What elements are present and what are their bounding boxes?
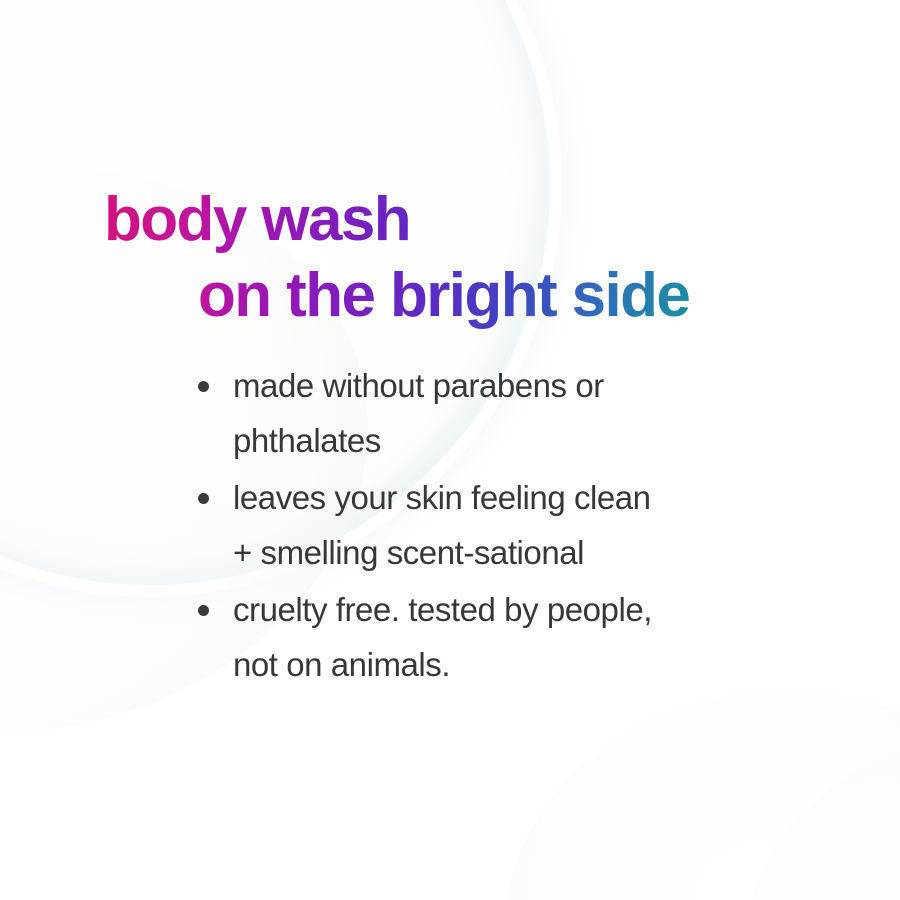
bullet-dot-icon — [198, 381, 209, 392]
list-item: made without parabens or phthalates — [196, 358, 836, 468]
content-layer: body wash on the bright side made withou… — [0, 0, 900, 900]
headline: body wash on the bright side — [104, 182, 824, 334]
list-item-line-2: + smelling scent-sational — [233, 525, 836, 580]
headline-line-2: on the bright side — [198, 258, 824, 334]
list-item-line-2: phthalates — [233, 413, 836, 468]
promo-graphic: body wash on the bright side made withou… — [0, 0, 900, 900]
list-item-line-1: made without parabens or — [233, 358, 836, 413]
bullet-dot-icon — [198, 605, 209, 616]
list-item-line-1: leaves your skin feeling clean — [233, 470, 836, 525]
list-item-line-1: cruelty free. tested by people, — [233, 582, 836, 637]
bullet-dot-icon — [198, 493, 209, 504]
list-item: cruelty free. tested by people, not on a… — [196, 582, 836, 692]
headline-line-1: body wash — [104, 182, 824, 258]
benefits-list: made without parabens or phthalates leav… — [196, 358, 836, 694]
list-item: leaves your skin feeling clean + smellin… — [196, 470, 836, 580]
list-item-line-2: not on animals. — [233, 637, 836, 692]
